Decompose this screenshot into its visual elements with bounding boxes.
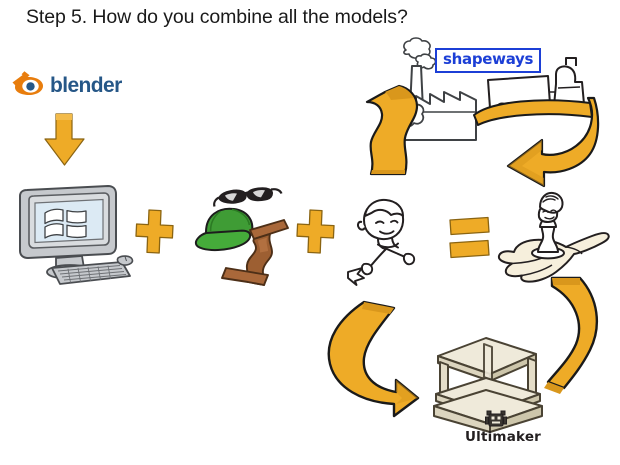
blender-logo-icon: [12, 70, 46, 101]
computer-workstation: [12, 182, 140, 290]
arrow-down-blender: [40, 112, 90, 168]
equals-sign: [447, 216, 493, 262]
blender-logo: blender: [12, 70, 122, 101]
scanned-objects: [192, 182, 300, 287]
slide-canvas: Step 5. How do you combine all the model…: [0, 0, 620, 465]
ultimaker-logo: Ultimaker: [448, 428, 558, 446]
glasses-icon: [214, 188, 281, 207]
ultimaker-robot-icon: [485, 410, 507, 430]
blender-wordmark: blender: [50, 75, 122, 96]
plus-sign-1: [135, 208, 175, 256]
green-cap-icon: [196, 209, 252, 250]
arrow-bottom-left-curve: [312, 292, 420, 420]
ultimaker-wordmark: Ultimaker: [465, 429, 541, 445]
smoke-cloud: [404, 38, 436, 69]
shapeways-wordmark: shapeways: [443, 50, 533, 68]
arrow-factory-down: [361, 84, 447, 180]
page-title: Step 5. How do you combine all the model…: [26, 6, 408, 29]
arrow-train-down: [488, 96, 600, 190]
plus-sign-2: [296, 208, 336, 256]
shapeways-logo: shapeways: [435, 48, 541, 73]
person-figure: [346, 196, 428, 286]
